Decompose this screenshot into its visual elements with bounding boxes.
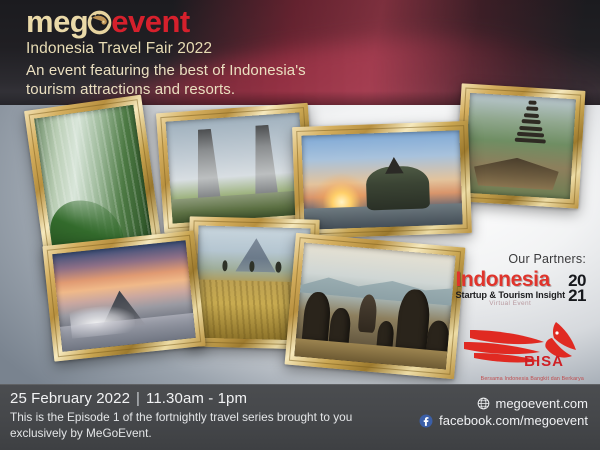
footer-description-line-1: This is the Episode 1 of the fortnightly…: [10, 409, 352, 425]
event-poster: megevent Indonesia Travel Fair 2022 An e…: [0, 0, 600, 450]
photo-frame-bromo: [42, 230, 205, 361]
globe-icon: [477, 397, 490, 410]
partner-logo-indonesia-startup-tourism-insight: Indonesia Startup & Tourism Insight Virt…: [434, 270, 586, 308]
isti-subtitle: Startup & Tourism Insight: [455, 290, 565, 300]
poster-subtitle: Indonesia Travel Fair 2022: [26, 40, 600, 58]
photo-frame-gates: [156, 103, 316, 233]
logo-text-meg: meg: [26, 4, 88, 39]
website-link[interactable]: megoevent.com: [496, 396, 589, 411]
megoevent-logo: megevent: [26, 6, 600, 39]
partners-label: Our Partners:: [434, 252, 586, 266]
partner-logo-bisa: BISA Bersama Indonesia Bangkit dan Berka…: [434, 320, 586, 382]
poster-footer: 25 February 2022|11.30am - 1pm This is t…: [0, 384, 600, 450]
photo-ulun-danu-temple: [464, 93, 576, 199]
footer-description-line-2: exclusively by MeGoEvent.: [10, 425, 352, 441]
logo-text-event: event: [111, 4, 189, 39]
photo-mount-bromo-sunrise: [52, 240, 196, 351]
datetime-separator: |: [136, 390, 140, 407]
facebook-icon[interactable]: [419, 414, 433, 428]
dragon-o-icon: [87, 10, 112, 35]
event-datetime: 25 February 2022|11.30am - 1pm: [10, 390, 352, 407]
photo-tanah-lot-sunset: [301, 130, 462, 229]
poster-header: megevent Indonesia Travel Fair 2022 An e…: [0, 0, 600, 105]
bisa-tagline: Bersama Indonesia Bangkit dan Berkarya: [481, 376, 584, 382]
tagline-line-1: An event featuring the best of Indonesia…: [26, 61, 600, 81]
bisa-name: BISA: [524, 353, 564, 370]
photo-frame-ulundanu: [455, 83, 586, 208]
photo-borobudur-stupas: [294, 243, 455, 370]
tagline-line-2: tourism attractions and resorts.: [26, 80, 600, 100]
isti-subtitle-2: Virtual Event: [455, 300, 565, 308]
isti-year-bottom: 21: [568, 289, 586, 304]
photo-lempuyang-gates: [166, 112, 307, 223]
partners-section: Our Partners: Indonesia Startup & Touris…: [434, 252, 586, 382]
isti-word: Indonesia: [455, 270, 565, 290]
event-date: 25 February 2022: [10, 390, 130, 407]
event-time: 11.30am - 1pm: [146, 390, 247, 407]
facebook-link[interactable]: facebook.com/megoevent: [439, 413, 588, 428]
